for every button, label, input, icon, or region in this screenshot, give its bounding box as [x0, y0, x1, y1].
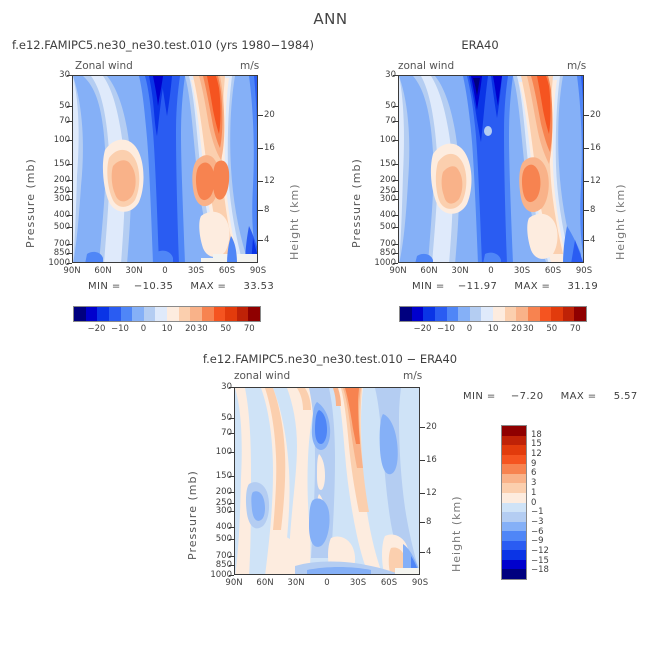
axis-tick-label: 60S [541, 266, 565, 276]
max-value-model: 33.53 [244, 281, 275, 292]
colorbar-model[interactable] [73, 306, 261, 322]
axis-tick-label: 300 [364, 194, 396, 204]
minmax-obs: MIN = −11.97 MAX = 31.19 [412, 281, 598, 292]
axis-tick-label: 500 [364, 222, 396, 232]
axis-tick-label: 850 [38, 248, 70, 258]
colorbar-swatch [502, 464, 526, 474]
axis-tick-label: 90S [572, 266, 596, 276]
y2-axis-title-model: Height (km) [288, 150, 301, 260]
colorbar-swatch [155, 307, 167, 321]
axis-tick-label: 200 [200, 487, 232, 497]
axis-tick-mark [258, 148, 263, 149]
colorbar-swatch [505, 307, 517, 321]
y2-axis-title-obs: Height (km) [614, 150, 627, 260]
colorbar-swatch [502, 445, 526, 455]
colorbar-swatch [214, 307, 226, 321]
axis-tick-label: 300 [200, 506, 232, 516]
axis-tick-label: 8 [590, 205, 595, 215]
colorbar-tick-label: 70 [238, 324, 260, 334]
colorbar-swatch [144, 307, 156, 321]
colorbar-tick-label: −10 [109, 324, 131, 334]
axis-tick-label: 100 [200, 447, 232, 457]
axis-tick-label: 90N [386, 266, 410, 276]
axis-tick-label: 60S [377, 578, 401, 588]
colorbar-tick-label: −20 [86, 324, 108, 334]
axis-tick-label: 30 [38, 70, 70, 80]
axis-tick-label: 70 [364, 116, 396, 126]
axis-tick-label: 20 [264, 110, 275, 120]
panel-field-label-obs: zonal wind [398, 60, 454, 72]
max-label-difference: MAX = [561, 391, 597, 402]
axis-tick-mark [420, 460, 425, 461]
axis-tick-label: 300 [38, 194, 70, 204]
axis-tick-label: 0 [479, 266, 503, 276]
axis-tick-mark [584, 181, 589, 182]
axis-tick-mark [420, 522, 425, 523]
colorbar-swatch [423, 307, 435, 321]
colorbar-tick-label: −20 [412, 324, 434, 334]
colorbar-swatch [412, 307, 424, 321]
colorbar-swatch [551, 307, 563, 321]
colorbar-tick-label: 18 [531, 431, 542, 440]
panel-field-label-difference: zonal wind [234, 370, 290, 382]
axis-tick-label: 30N [448, 266, 472, 276]
colorbar-swatch [202, 307, 214, 321]
colorbar-swatch [167, 307, 179, 321]
axis-tick-mark [229, 575, 234, 576]
axis-tick-label: 0 [153, 266, 177, 276]
colorbar-model-ticklabels: −20−1001020305070 [73, 324, 261, 336]
axis-tick-label: 150 [364, 159, 396, 169]
axis-tick-label: 12 [590, 176, 601, 186]
panel-title-obs: ERA40 [400, 38, 560, 52]
colorbar-obs[interactable] [399, 306, 587, 322]
colorbar-swatch [502, 541, 526, 551]
axis-tick-label: 30N [284, 578, 308, 588]
y-axis-title-obs: Pressure (mb) [350, 108, 363, 248]
axis-tick-label: 60N [91, 266, 115, 276]
axis-tick-mark [584, 148, 589, 149]
axis-tick-label: 30S [184, 266, 208, 276]
colorbar-swatch [458, 307, 470, 321]
axis-tick-mark [258, 181, 263, 182]
axis-tick-label: 90S [408, 578, 432, 588]
axis-tick-mark [258, 210, 263, 211]
axis-tick-label: 850 [364, 248, 396, 258]
colorbar-swatch [502, 483, 526, 493]
contour-svg-obs [399, 76, 584, 263]
colorbar-swatch [190, 307, 202, 321]
axis-tick-mark [584, 210, 589, 211]
colorbar-tick-label: 15 [531, 440, 542, 449]
colorbar-tick-label: −10 [435, 324, 457, 334]
y-axis-title-difference: Pressure (mb) [186, 420, 199, 560]
axis-tick-mark [258, 240, 263, 241]
colorbar-tick-label: 0 [531, 499, 536, 508]
axis-tick-label: 70 [200, 428, 232, 438]
axis-tick-label: 150 [200, 471, 232, 481]
panel-title-model: f.e12.FAMIPC5.ne30_ne30.test.010 (yrs 19… [12, 38, 314, 52]
axis-tick-label: 4 [426, 547, 431, 557]
axis-tick-label: 400 [364, 210, 396, 220]
min-label-obs: MIN = [412, 281, 445, 292]
axis-tick-label: 100 [364, 135, 396, 145]
axis-tick-label: 8 [264, 205, 269, 215]
axis-tick-label: 12 [426, 488, 437, 498]
panel-field-label-model: Zonal wind [75, 60, 133, 72]
colorbar-swatch [470, 307, 482, 321]
axis-tick-label: 60S [215, 266, 239, 276]
colorbar-tick-label: −15 [531, 557, 549, 566]
contour-svg-difference [235, 388, 420, 575]
colorbar-tick-label: 50 [541, 324, 563, 334]
colorbar-swatch [74, 307, 86, 321]
colorbar-swatch [528, 307, 540, 321]
colorbar-swatch [86, 307, 98, 321]
colorbar-tick-label: 3 [531, 479, 536, 488]
axis-tick-label: 70 [38, 116, 70, 126]
axis-tick-label: 100 [38, 135, 70, 145]
max-label-model: MAX = [190, 281, 226, 292]
colorbar-swatch [225, 307, 237, 321]
axis-tick-mark [258, 115, 263, 116]
min-label-model: MIN = [88, 281, 121, 292]
panel-units-difference: m/s [403, 370, 422, 382]
axis-tick-mark [67, 263, 72, 264]
colorbar-swatch [502, 455, 526, 465]
axis-tick-label: 30S [346, 578, 370, 588]
colorbar-swatch [481, 307, 493, 321]
axis-tick-label: 16 [264, 143, 275, 153]
colorbar-swatch [179, 307, 191, 321]
axis-tick-mark [584, 240, 589, 241]
axis-tick-label: 30N [122, 266, 146, 276]
axis-tick-label: 4 [590, 235, 595, 245]
colorbar-swatch [237, 307, 249, 321]
axis-tick-mark [420, 427, 425, 428]
colorbar-swatch [502, 426, 526, 436]
panel-units-obs: m/s [567, 60, 586, 72]
min-value-model: −10.35 [134, 281, 173, 292]
colorbar-swatch [502, 503, 526, 513]
colorbar-swatch [574, 307, 586, 321]
colorbar-swatch [502, 493, 526, 503]
colorbar-swatch [540, 307, 552, 321]
contour-plot-obs[interactable] [398, 75, 584, 263]
colorbar-swatch [502, 436, 526, 446]
min-value-obs: −11.97 [458, 281, 497, 292]
minmax-model: MIN = −10.35 MAX = 33.53 [88, 281, 274, 292]
axis-tick-label: 60N [417, 266, 441, 276]
axis-tick-label: 90S [246, 266, 270, 276]
colorbar-obs-ticklabels: −20−1001020305070 [399, 324, 587, 336]
min-label-difference: MIN = [463, 391, 496, 402]
axis-tick-label: 50 [364, 101, 396, 111]
colorbar-swatch [447, 307, 459, 321]
minmax-difference: MIN = −7.20 MAX = 5.57 [463, 391, 638, 402]
colorbar-tick-label: 6 [531, 469, 536, 478]
colorbar-swatch [435, 307, 447, 321]
colorbar-swatch [400, 307, 412, 321]
colorbar-difference[interactable] [501, 425, 527, 580]
colorbar-tick-label: 0 [459, 324, 481, 334]
colorbar-swatch [516, 307, 528, 321]
max-value-difference: 5.57 [614, 391, 638, 402]
colorbar-tick-label: 12 [531, 450, 542, 459]
figure-main-title: ANN [0, 10, 661, 28]
colorbar-tick-label: 70 [564, 324, 586, 334]
colorbar-tick-label: 0 [133, 324, 155, 334]
axis-tick-label: 400 [200, 522, 232, 532]
colorbar-swatch [563, 307, 575, 321]
axis-tick-label: 50 [38, 101, 70, 111]
axis-tick-label: 12 [264, 176, 275, 186]
colorbar-swatch [502, 550, 526, 560]
axis-tick-label: 90N [222, 578, 246, 588]
panel-title-difference: f.e12.FAMIPC5.ne30_ne30.test.010 − ERA40 [180, 352, 480, 366]
axis-tick-label: 850 [200, 560, 232, 570]
panel-units-model: m/s [240, 60, 259, 72]
colorbar-swatch [502, 522, 526, 532]
colorbar-swatch [121, 307, 133, 321]
axis-tick-label: 500 [38, 222, 70, 232]
colorbar-tick-label: 10 [482, 324, 504, 334]
axis-tick-mark [420, 493, 425, 494]
axis-tick-label: 8 [426, 517, 431, 527]
colorbar-tick-label: 30 [191, 324, 213, 334]
axis-tick-label: 200 [364, 175, 396, 185]
colorbar-tick-label: −12 [531, 547, 549, 556]
colorbar-swatch [248, 307, 260, 321]
axis-tick-label: 50 [200, 413, 232, 423]
axis-tick-mark [393, 263, 398, 264]
colorbar-swatch [502, 560, 526, 570]
axis-tick-label: 90N [60, 266, 84, 276]
min-value-difference: −7.20 [511, 391, 544, 402]
colorbar-tick-label: −9 [531, 537, 544, 546]
colorbar-swatch [132, 307, 144, 321]
colorbar-swatch [493, 307, 505, 321]
axis-tick-label: 0 [315, 578, 339, 588]
axis-tick-mark [420, 552, 425, 553]
y2-axis-title-difference: Height (km) [450, 462, 463, 572]
colorbar-swatch [109, 307, 121, 321]
axis-tick-label: 60N [253, 578, 277, 588]
contour-svg-model [73, 76, 258, 263]
max-value-obs: 31.19 [568, 281, 599, 292]
contour-plot-model[interactable] [72, 75, 258, 263]
colorbar-tick-label: −3 [531, 518, 544, 527]
axis-tick-label: 150 [38, 159, 70, 169]
colorbar-tick-label: −1 [531, 508, 544, 517]
colorbar-tick-label: 1 [531, 489, 536, 498]
axis-tick-label: 30 [364, 70, 396, 80]
contour-plot-difference[interactable] [234, 387, 420, 575]
axis-tick-label: 30S [510, 266, 534, 276]
colorbar-swatch [502, 474, 526, 484]
colorbar-tick-label: −18 [531, 566, 549, 575]
axis-tick-label: 500 [200, 534, 232, 544]
y-axis-title-model: Pressure (mb) [24, 108, 37, 248]
colorbar-tick-label: 50 [215, 324, 237, 334]
axis-tick-label: 20 [590, 110, 601, 120]
colorbar-swatch [502, 569, 526, 579]
axis-tick-mark [584, 115, 589, 116]
colorbar-swatch [502, 512, 526, 522]
axis-tick-label: 30 [200, 382, 232, 392]
axis-tick-label: 200 [38, 175, 70, 185]
colorbar-swatch [97, 307, 109, 321]
colorbar-tick-label: 30 [517, 324, 539, 334]
colorbar-tick-label: 10 [156, 324, 178, 334]
axis-tick-label: 20 [426, 422, 437, 432]
axis-tick-label: 16 [590, 143, 601, 153]
axis-tick-label: 400 [38, 210, 70, 220]
colorbar-tick-label: −6 [531, 528, 544, 537]
axis-tick-label: 4 [264, 235, 269, 245]
axis-tick-label: 16 [426, 455, 437, 465]
colorbar-swatch [502, 531, 526, 541]
max-label-obs: MAX = [514, 281, 550, 292]
colorbar-tick-label: 9 [531, 460, 536, 469]
